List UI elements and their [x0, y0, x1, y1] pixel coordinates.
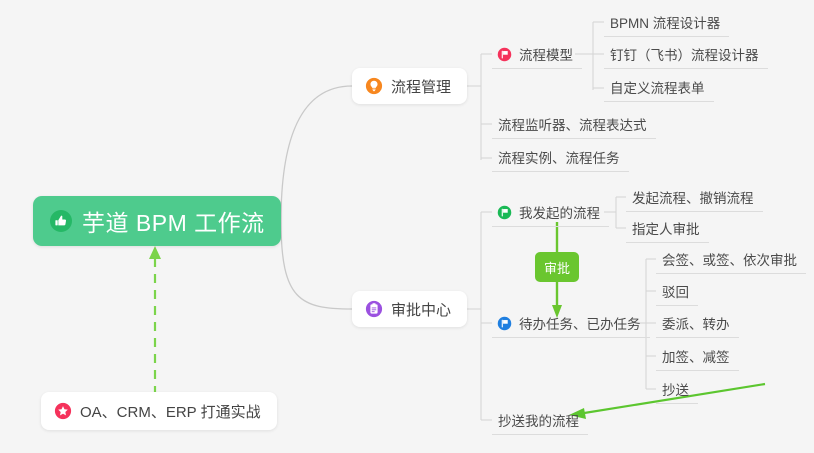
branch-node-approval-center[interactable]: 审批中心: [352, 291, 467, 327]
node-label: 待办任务、已办任务: [519, 313, 641, 333]
branch-label: 流程管理: [391, 76, 451, 97]
leaf-start-cancel-process[interactable]: 发起流程、撤销流程: [626, 183, 763, 212]
node-label: 我发起的流程: [519, 202, 600, 222]
flag-icon: [497, 316, 512, 331]
root-label: 芋道 BPM 工作流: [82, 204, 265, 238]
lightbulb-icon: [365, 77, 383, 95]
node-label: 流程模型: [519, 44, 573, 64]
thumbs-up-icon: [49, 209, 73, 233]
footnote-node[interactable]: OA、CRM、ERP 打通实战: [41, 392, 277, 430]
leaf-instance-task[interactable]: 流程实例、流程任务: [492, 143, 629, 172]
arrow-label-approval: 审批: [535, 252, 579, 282]
leaf-cc-to-me[interactable]: 抄送我的流程: [492, 406, 588, 435]
leaf-assignee-approval[interactable]: 指定人审批: [626, 214, 709, 243]
leaf-listener-expression[interactable]: 流程监听器、流程表达式: [492, 110, 656, 139]
badge-label: 审批: [544, 258, 570, 277]
node-my-initiated-process[interactable]: 我发起的流程: [492, 198, 609, 227]
leaf-label: 钉钉（飞书）流程设计器: [610, 44, 759, 64]
leaf-reject[interactable]: 驳回: [656, 277, 698, 306]
leaf-custom-form[interactable]: 自定义流程表单: [604, 73, 714, 102]
flag-icon: [497, 205, 512, 220]
leaf-label: BPMN 流程设计器: [610, 12, 720, 32]
flag-icon: [497, 47, 512, 62]
leaf-label: 驳回: [662, 281, 689, 301]
leaf-label: 指定人审批: [632, 218, 700, 238]
mindmap-canvas: 芋道 BPM 工作流 流程管理 流程模型 BPMN 流程设计器 钉钉（飞书）流程: [0, 0, 814, 453]
leaf-label: 抄送我的流程: [498, 410, 579, 430]
leaf-label: 流程监听器、流程表达式: [498, 114, 647, 134]
leaf-dingtalk-designer[interactable]: 钉钉（飞书）流程设计器: [604, 40, 768, 69]
leaf-delegate-transfer[interactable]: 委派、转办: [656, 309, 739, 338]
leaf-label: 抄送: [662, 379, 689, 399]
leaf-label: 发起流程、撤销流程: [632, 187, 754, 207]
leaf-label: 委派、转办: [662, 313, 730, 333]
node-process-model[interactable]: 流程模型: [492, 40, 582, 69]
star-icon: [54, 402, 72, 420]
leaf-cc[interactable]: 抄送: [656, 375, 698, 404]
clipboard-icon: [365, 300, 383, 318]
branch-node-process-management[interactable]: 流程管理: [352, 68, 467, 104]
footnote-label: OA、CRM、ERP 打通实战: [80, 401, 261, 422]
leaf-label: 加签、减签: [662, 346, 730, 366]
leaf-multi-approval[interactable]: 会签、或签、依次审批: [656, 245, 806, 274]
node-todo-done-tasks[interactable]: 待办任务、已办任务: [492, 309, 650, 338]
leaf-label: 流程实例、流程任务: [498, 147, 620, 167]
leaf-add-remove-sign[interactable]: 加签、减签: [656, 342, 739, 371]
root-node[interactable]: 芋道 BPM 工作流: [33, 196, 281, 246]
branch-label: 审批中心: [391, 299, 451, 320]
leaf-label: 自定义流程表单: [610, 77, 705, 97]
leaf-label: 会签、或签、依次审批: [662, 249, 797, 269]
leaf-bpmn-designer[interactable]: BPMN 流程设计器: [604, 8, 729, 37]
